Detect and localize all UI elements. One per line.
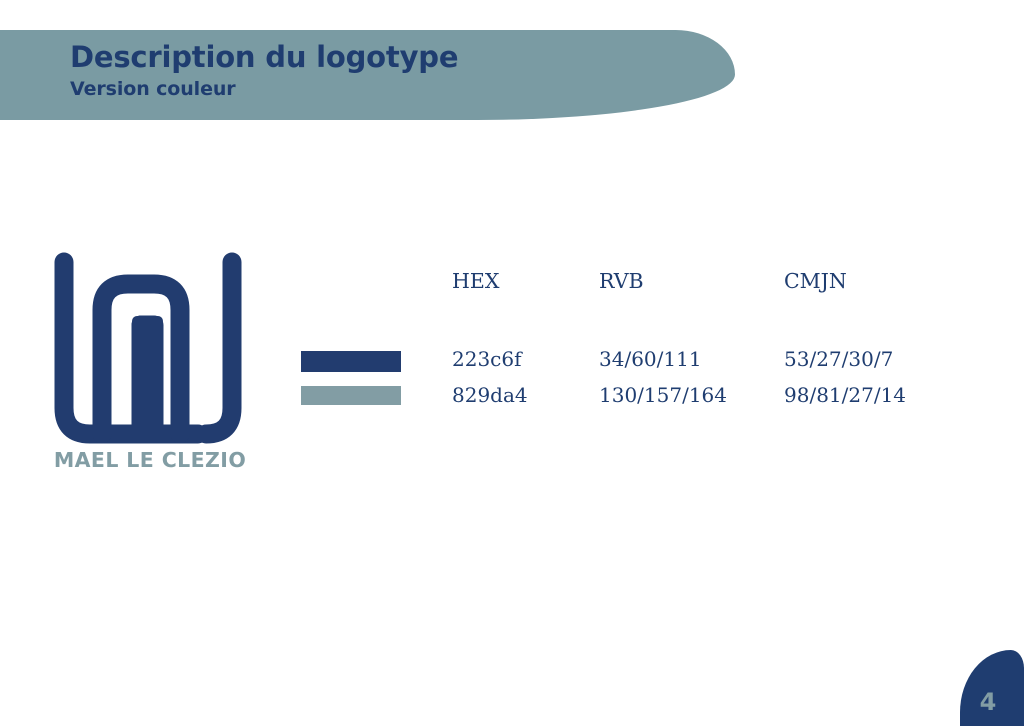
color-spec-table: HEX RVB CMJN 223c6f 34/60/111 53/27/30/7…	[452, 271, 972, 405]
cell-cmjn-secondary: 98/81/27/14	[784, 385, 972, 405]
page-number-badge: 4	[960, 650, 1024, 726]
table-body: 223c6f 34/60/111 53/27/30/7 829da4 130/1…	[452, 349, 972, 405]
cell-rvb-secondary: 130/157/164	[599, 385, 784, 405]
cell-cmjn-primary: 53/27/30/7	[784, 349, 972, 369]
page-number: 4	[960, 690, 1016, 714]
cell-hex-secondary: 829da4	[452, 385, 599, 405]
slide: Description du logotype Version couleur	[0, 0, 1024, 726]
header-text-group: Description du logotype Version couleur	[70, 42, 710, 100]
secondary-teal-swatch	[301, 386, 401, 405]
logo-wordmark: MAEL LE CLEZIO	[52, 448, 248, 472]
column-header-rvb: RVB	[599, 271, 784, 292]
column-header-hex: HEX	[452, 271, 599, 292]
cell-hex-primary: 223c6f	[452, 349, 599, 369]
column-header-cmjn: CMJN	[784, 271, 972, 292]
table-row: 223c6f 34/60/111 53/27/30/7	[452, 349, 972, 369]
table-header-row: HEX RVB CMJN	[452, 271, 972, 292]
table-row: 829da4 130/157/164 98/81/27/14	[452, 385, 972, 405]
logo-block: MAEL LE CLEZIO	[50, 250, 250, 480]
mlc-monogram-logo-icon	[50, 250, 246, 445]
page-title: Description du logotype	[70, 42, 710, 73]
page-subtitle: Version couleur	[70, 79, 710, 100]
swatch-column	[301, 351, 401, 405]
primary-navy-swatch	[301, 351, 401, 372]
cell-rvb-primary: 34/60/111	[599, 349, 784, 369]
